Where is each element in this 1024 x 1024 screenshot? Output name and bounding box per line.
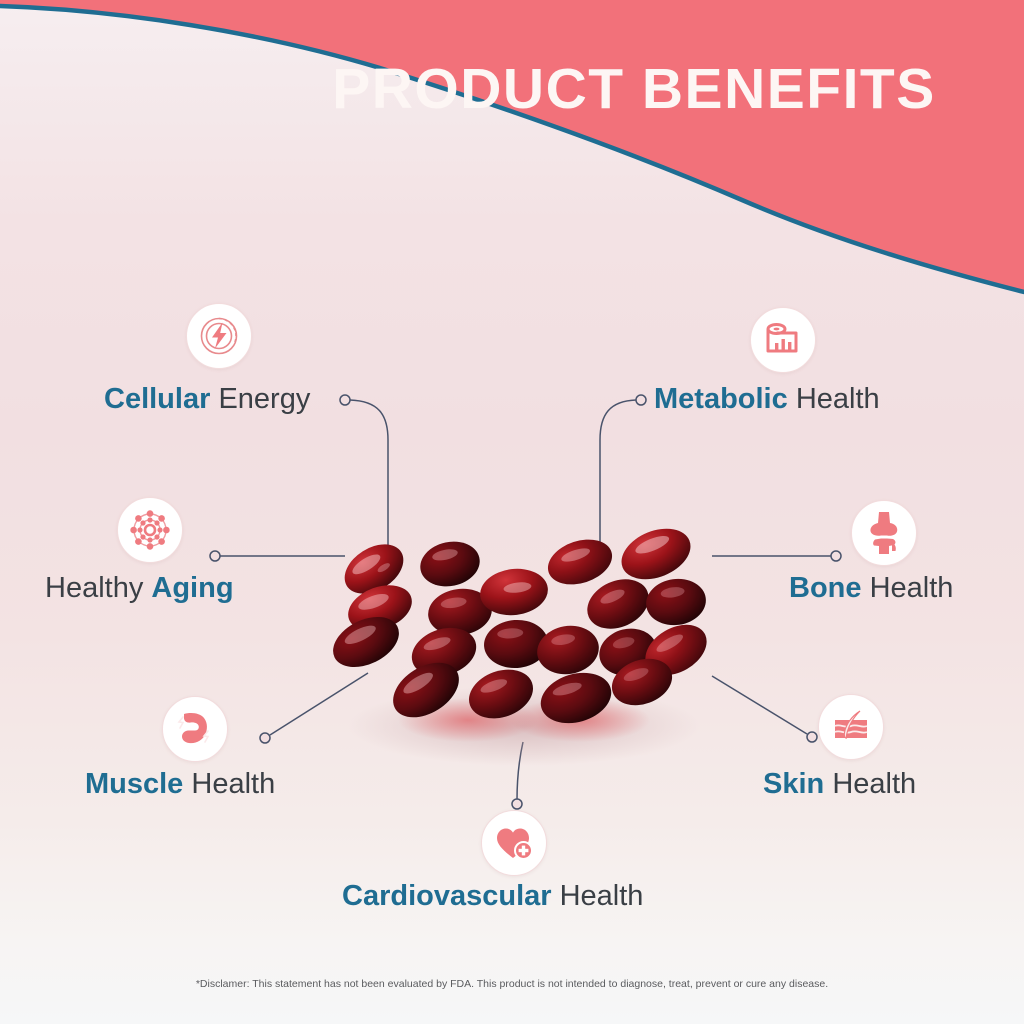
label-skin-health-bold: Skin [763, 768, 824, 800]
label-bone-health-bold: Bone [789, 572, 862, 604]
badge-skin-health[interactable] [818, 694, 884, 760]
connector-dot-healthy-aging [210, 551, 220, 561]
disclaimer-text: *Disclamer: This statement has not been … [0, 978, 1024, 990]
badge-metabolic-health[interactable] [750, 307, 816, 373]
label-muscle-health-bold: Muscle [85, 768, 183, 800]
label-metabolic-health-bold: Metabolic [654, 383, 788, 415]
connector-dot-cellular-energy [340, 395, 350, 405]
connector-dot-bone-health [831, 551, 841, 561]
header-outline-stroke [0, 6, 1024, 292]
label-bone-health: Bone Health [789, 574, 953, 603]
badge-cellular-energy[interactable] [186, 303, 252, 369]
label-metabolic-health-regular: Health [796, 383, 880, 415]
measuring-tape-chart-icon [762, 319, 804, 361]
skin-layers-follicle-icon [829, 705, 873, 749]
label-cardiovascular-health: Cardiovascular Health [342, 882, 643, 911]
header-banner [0, 0, 1024, 340]
header-coral-shape [0, 0, 1024, 292]
badge-muscle-health[interactable] [162, 696, 228, 762]
label-healthy-aging-bold: Aging [151, 572, 233, 604]
heart-medical-cross-icon [492, 821, 536, 865]
connector-dot-skin-health [807, 732, 817, 742]
page-title: PRODUCT BENEFITS [0, 56, 1024, 122]
label-metabolic-health: Metabolic Health [654, 385, 880, 414]
product-image-softgel-pile [318, 512, 730, 780]
cell-molecule-icon [127, 507, 173, 553]
label-cardiovascular-health-regular: Health [560, 880, 644, 912]
badge-cardiovascular-health[interactable] [481, 810, 547, 876]
label-cellular-energy: Cellular Energy [104, 385, 310, 414]
knee-joint-icon [863, 510, 905, 556]
label-muscle-health-regular: Health [191, 768, 275, 800]
label-skin-health-regular: Health [832, 768, 916, 800]
label-cellular-energy-regular: Energy [218, 383, 310, 415]
badge-healthy-aging[interactable] [117, 497, 183, 563]
connector-dot-muscle-health [260, 733, 270, 743]
label-cellular-energy-bold: Cellular [104, 383, 210, 415]
badge-bone-health[interactable] [851, 500, 917, 566]
infographic-page: { "header": { "title": "PRODUCT BENEFITS… [0, 0, 1024, 1024]
label-skin-health: Skin Health [763, 770, 916, 799]
connector-dot-cardiovascular-health [512, 799, 522, 809]
label-muscle-health: Muscle Health [85, 770, 275, 799]
flexed-bicep-icon [173, 707, 217, 751]
label-healthy-aging: Healthy Aging [45, 574, 234, 603]
connector-dot-metabolic-health [636, 395, 646, 405]
lightning-bolt-icon [197, 314, 241, 358]
label-cardiovascular-health-bold: Cardiovascular [342, 880, 552, 912]
label-bone-health-regular: Health [870, 572, 954, 604]
label-healthy-aging-regular: Healthy [45, 572, 143, 604]
